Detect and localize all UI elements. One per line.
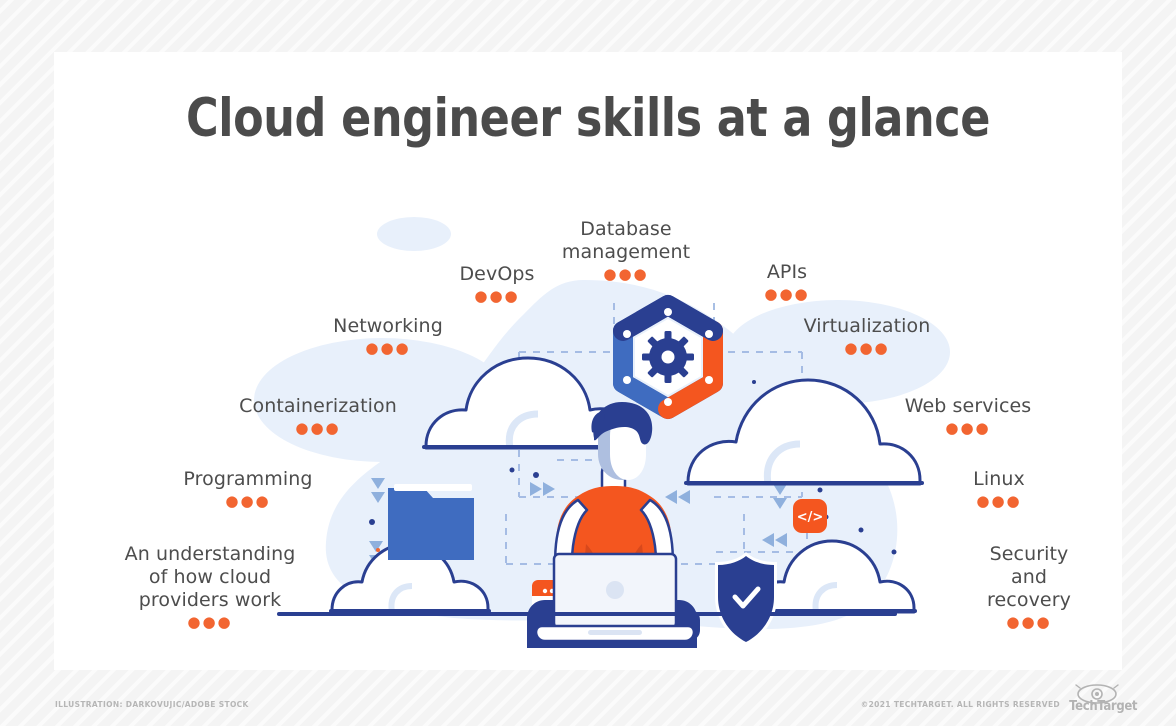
skill-label-text: Programming xyxy=(183,468,312,490)
illustration-credit: ILLUSTRATION: DARKOVUJIC/ADOBE STOCK xyxy=(55,700,249,709)
techtarget-logo: TechTarget xyxy=(1066,684,1128,714)
skill-dots: ●●● xyxy=(838,422,1098,434)
skill-dots: ●●● xyxy=(934,616,1124,628)
skill-label-text: Security and recovery xyxy=(987,543,1071,611)
code-badge-text: </> xyxy=(797,510,824,525)
skill-dots: ●●● xyxy=(90,616,330,628)
skill-label-text: An understanding of how cloud providers … xyxy=(125,543,296,611)
skill-label-security-recovery: Security and recovery ●●● xyxy=(934,520,1124,651)
skill-dots: ●●● xyxy=(884,495,1114,507)
copyright-notice: ©2021 TECHTARGET. ALL RIGHTS RESERVED xyxy=(861,700,1060,709)
skill-label-programming: Programming ●●● xyxy=(128,445,368,530)
ground-line xyxy=(277,612,897,616)
skill-label-text: Linux xyxy=(973,468,1025,490)
skill-label-text: APIs xyxy=(767,261,807,283)
techtarget-wordmark: TechTarget xyxy=(1069,699,1125,714)
skill-label-text: Networking xyxy=(333,315,443,337)
page-root: Cloud engineer skills at a glance xyxy=(0,0,1176,726)
skill-label-networking: Networking ●●● xyxy=(248,292,528,377)
content-card: Cloud engineer skills at a glance xyxy=(54,52,1122,670)
skill-label-virtualization: Virtualization ●●● xyxy=(712,292,1022,377)
skill-label-text: Web services xyxy=(905,395,1032,417)
skill-dots: ●●● xyxy=(178,422,458,434)
shield-check-icon xyxy=(718,556,774,642)
skill-label-text: Virtualization xyxy=(804,315,931,337)
skill-label-text: Database management xyxy=(562,218,690,263)
skill-dots: ●●● xyxy=(128,495,368,507)
code-badge: </> xyxy=(793,499,827,533)
skill-label-linux: Linux ●●● xyxy=(884,445,1114,530)
skill-label-cloud-providers: An understanding of how cloud providers … xyxy=(90,520,330,651)
skill-dots: ●●● xyxy=(712,342,1022,354)
skill-label-text: Containerization xyxy=(239,395,397,417)
skill-dots: ●●● xyxy=(248,342,528,354)
